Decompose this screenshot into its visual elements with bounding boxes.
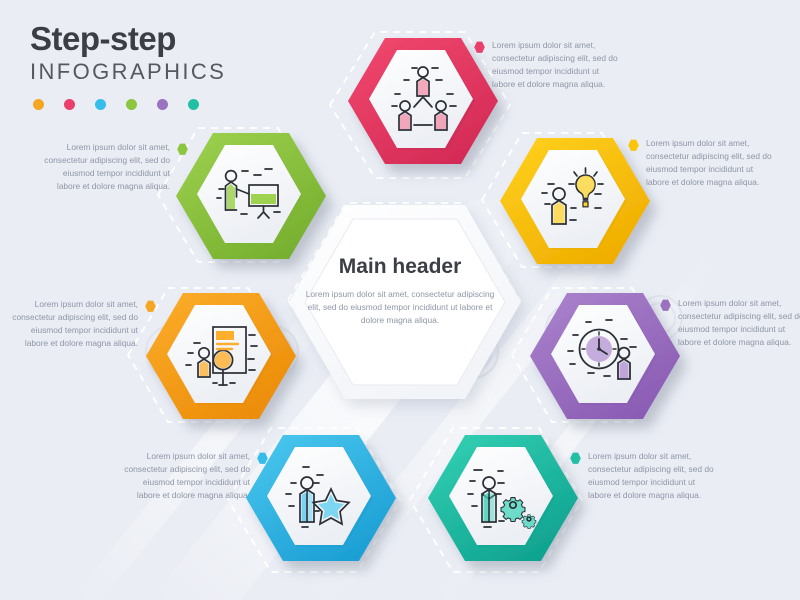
step-text-teal: Lorem ipsum dolor sit amet, consectetur … <box>570 450 720 502</box>
step-node-orange[interactable] <box>142 289 304 439</box>
step-node-blue[interactable] <box>242 429 404 581</box>
step-node-green[interactable] <box>172 129 334 279</box>
legend-dot-blue <box>95 99 106 110</box>
step-node-teal[interactable] <box>424 429 586 581</box>
step-text-blue-body: Lorem ipsum dolor sit amet, consectetur … <box>118 450 250 502</box>
step-text-yellow-body: Lorem ipsum dolor sit amet, consectetur … <box>646 137 778 189</box>
step-text-teal-body: Lorem ipsum dolor sit amet, consectetur … <box>588 450 720 502</box>
color-legend-dots <box>33 99 226 110</box>
step-text-purple-body: Lorem ipsum dolor sit amet, consectetur … <box>678 297 800 349</box>
step-text-green-body: Lorem ipsum dolor sit amet, consectetur … <box>38 141 170 193</box>
step-node-purple[interactable] <box>526 289 688 439</box>
legend-dot-orange <box>33 99 44 110</box>
step-text-pink-body: Lorem ipsum dolor sit amet, consectetur … <box>492 39 624 91</box>
step-text-orange: Lorem ipsum dolor sit amet, consectetur … <box>6 298 156 350</box>
page-subtitle: INFOGRAPHICS <box>30 59 226 85</box>
step-text-green: Lorem ipsum dolor sit amet, consectetur … <box>38 141 188 193</box>
step-text-orange-body: Lorem ipsum dolor sit amet, consectetur … <box>6 298 138 350</box>
title-block: Step-step INFOGRAPHICS <box>30 22 226 110</box>
infographic-canvas: Step-step INFOGRAPHICS <box>0 0 800 600</box>
legend-dot-purple <box>157 99 168 110</box>
legend-dot-green <box>126 99 137 110</box>
legend-dot-teal <box>188 99 199 110</box>
step-node-yellow[interactable] <box>496 134 658 284</box>
center-body: Lorem ipsum dolor sit amet, consectetur … <box>300 288 500 327</box>
page-title: Step-step <box>30 22 226 55</box>
legend-dot-pink <box>64 99 75 110</box>
step-node-pink[interactable] <box>344 32 506 184</box>
